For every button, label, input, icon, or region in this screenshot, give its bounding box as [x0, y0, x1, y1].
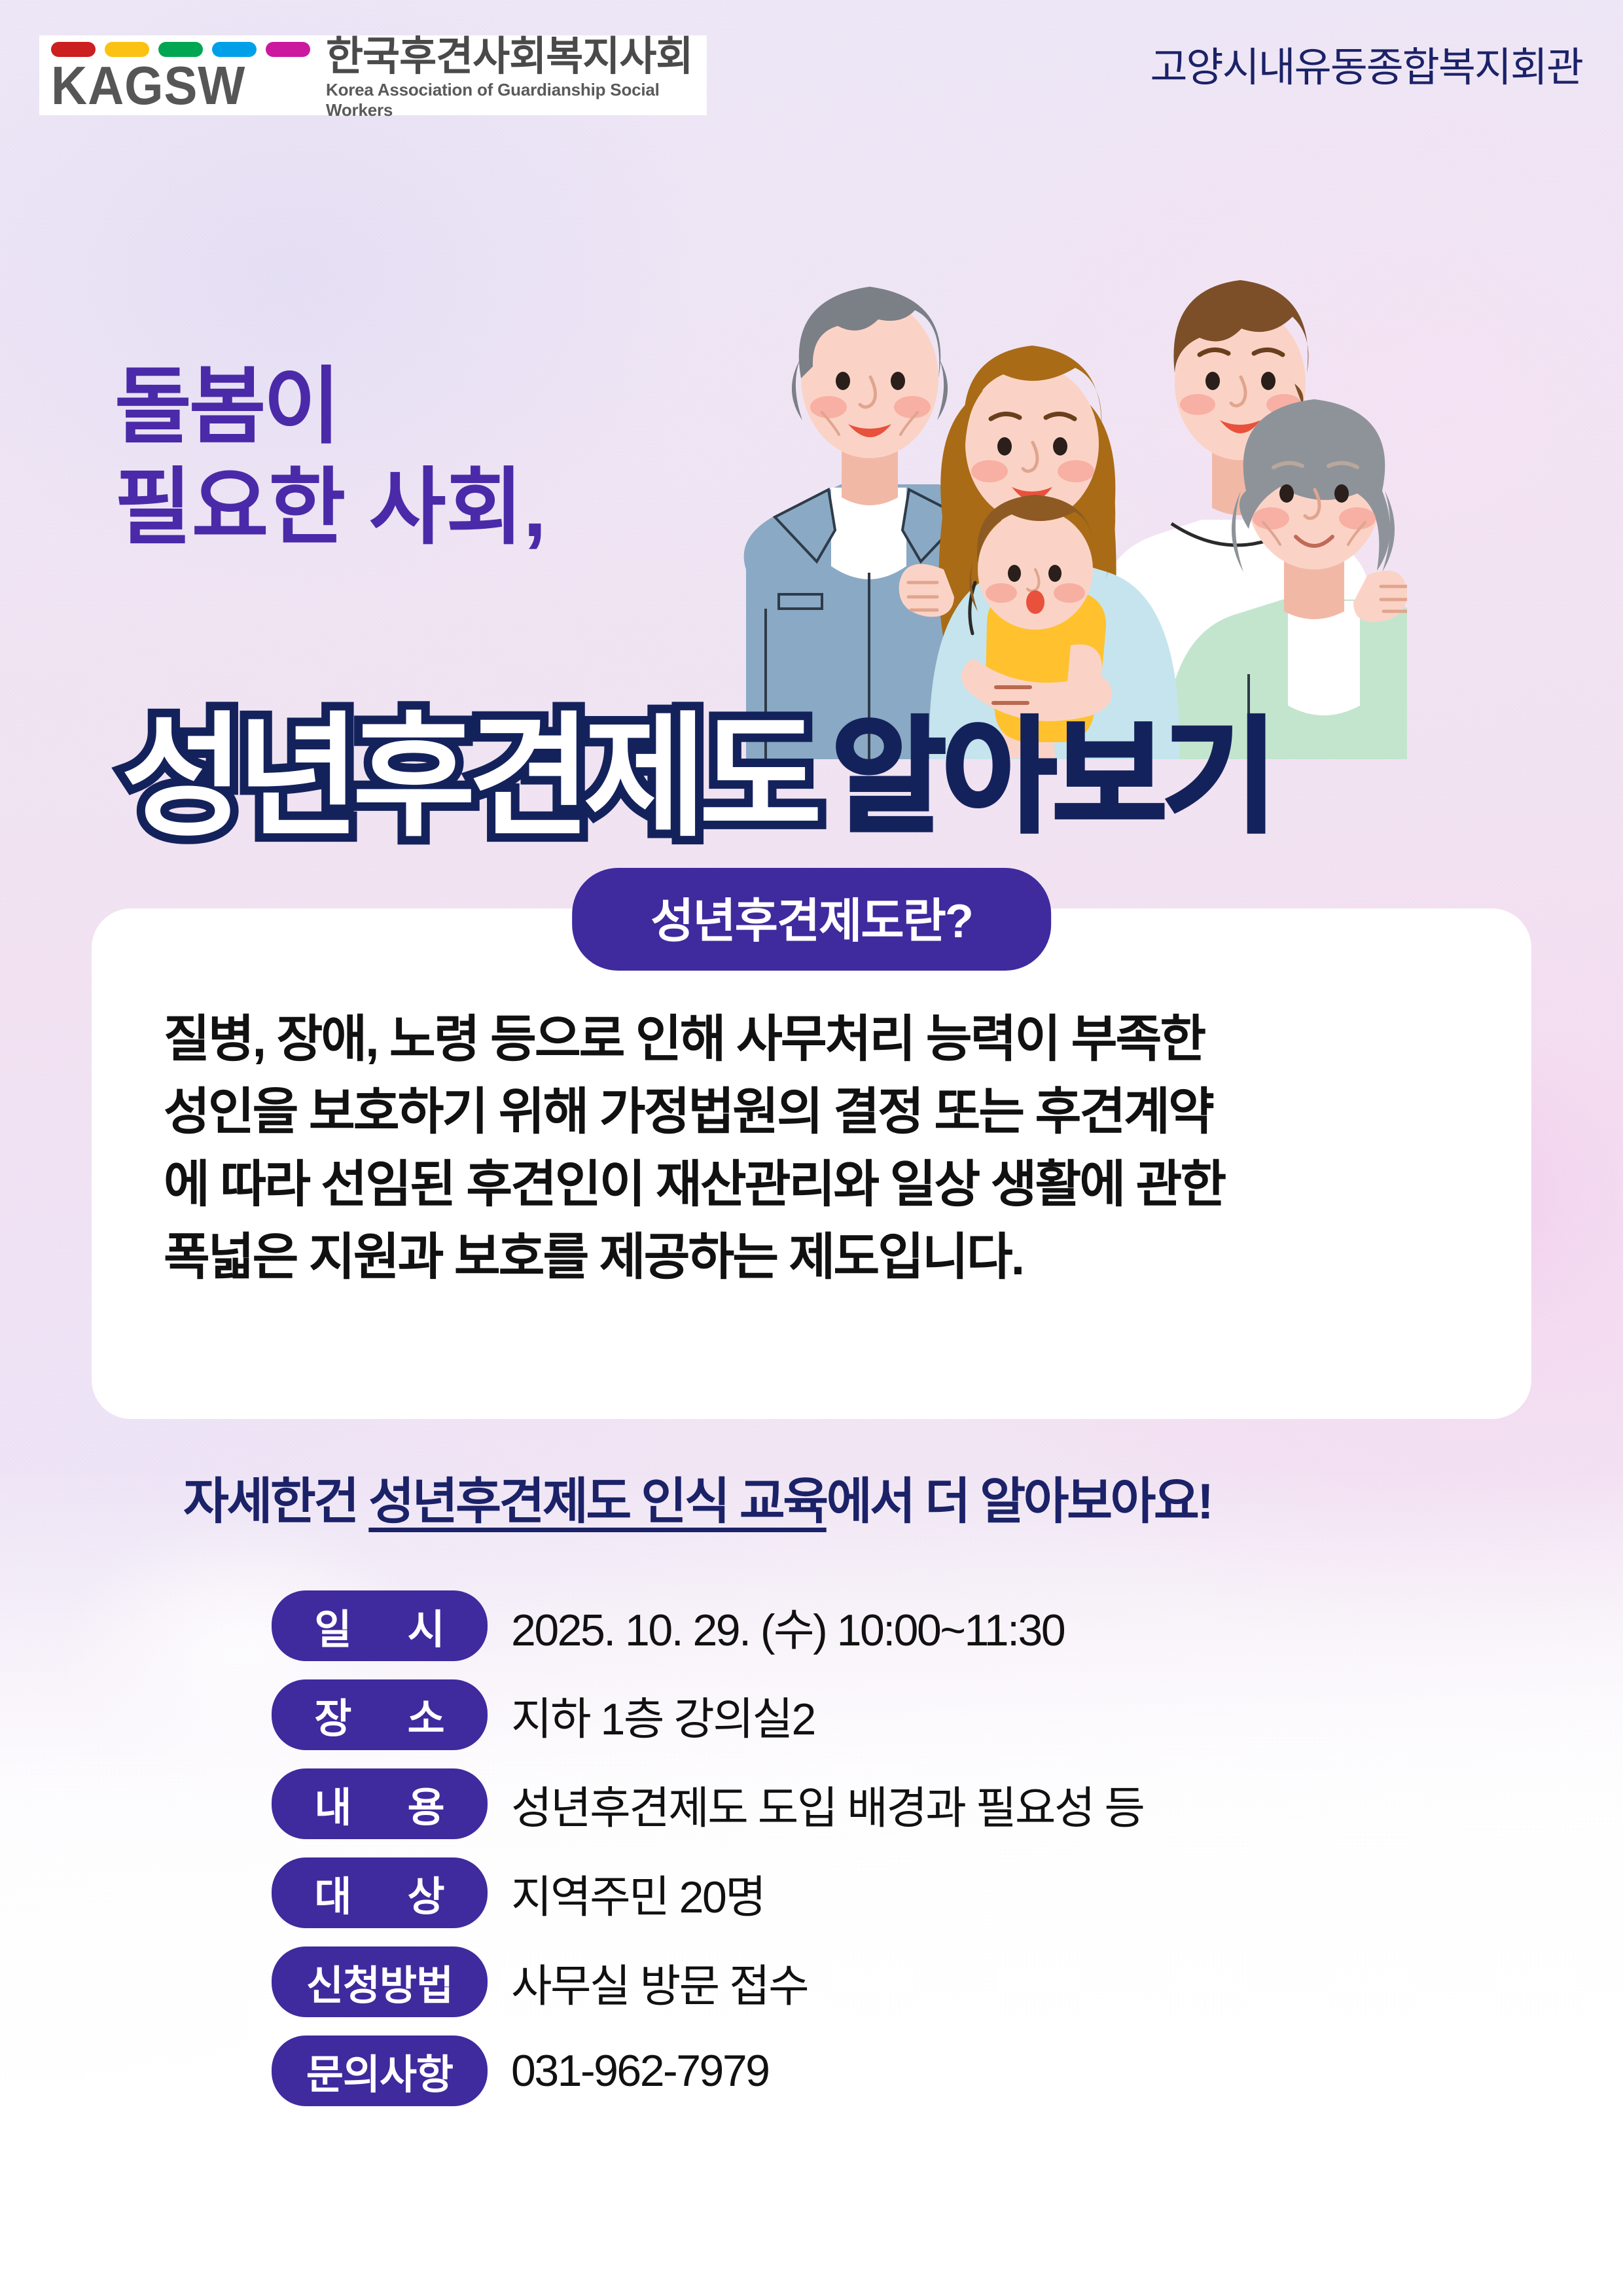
hero-title-solid: 알아보기: [832, 708, 1274, 847]
info-value-datetime: 2025. 10. 29. (수) 10:00~11:30: [511, 1594, 1064, 1659]
info-value-apply-method: 사무실 방문 접수: [511, 1950, 808, 2015]
definition-line-4: 폭넓은 지원과 보호를 제공하는 제도입니다.: [164, 1221, 1472, 1294]
family-illustration: [713, 216, 1407, 759]
info-value-audience: 지역주민 20명: [511, 1861, 764, 1926]
info-label-content: 내 용: [272, 1768, 488, 1839]
venue-name: 고양시내유동종합복지회관: [1150, 34, 1582, 93]
hero-subtitle-line2: 필요한 사회,: [115, 457, 546, 558]
info-row-datetime: 일 시 2025. 10. 29. (수) 10:00~11:30: [272, 1590, 1143, 1661]
definition-line-3: 에 따라 선임된 후견인이 재산관리와 일상 생활에 관한: [164, 1149, 1472, 1221]
cta-prefix: 자세한건: [183, 1474, 368, 1530]
logo-english-name: Korea Association of Guardianship Social…: [326, 80, 698, 120]
info-label-contact: 문의사항: [272, 2036, 488, 2106]
definition-card: 성년후견제도란? 질병, 장애, 노령 등으로 인해 사무처리 능력이 부족한 …: [92, 908, 1531, 1419]
info-label-location: 장 소: [272, 1679, 488, 1750]
info-row-location: 장 소 지하 1층 강의실2: [272, 1679, 1143, 1750]
logo-mark: KAGSW: [51, 42, 310, 108]
kagsw-logo: KAGSW 한국후견사회복지사회 Korea Association of Gu…: [39, 35, 707, 115]
logo-name-block: 한국후견사회복지사회 Korea Association of Guardian…: [326, 30, 698, 120]
hero-title: 성년후견제도알아보기: [121, 710, 1274, 844]
info-label-datetime: 일 시: [272, 1590, 488, 1661]
info-label-apply-method: 신청방법: [272, 1946, 488, 2017]
info-value-content: 성년후견제도 도입 배경과 필요성 등: [511, 1772, 1143, 1837]
hero-subtitle-line1: 돌봄이: [115, 357, 546, 457]
cta-underlined: 성년후견제도 인식 교육: [368, 1474, 826, 1530]
logo-korean-name: 한국후견사회복지사회: [326, 35, 698, 78]
hero-title-outlined: 성년후견제도: [121, 702, 815, 852]
definition-line-1: 질병, 장애, 노령 등으로 인해 사무처리 능력이 부족한: [164, 1003, 1472, 1076]
poster-header: KAGSW 한국후견사회복지사회 Korea Association of Gu…: [0, 0, 1623, 124]
info-row-apply-method: 신청방법 사무실 방문 접수: [272, 1946, 1143, 2017]
cta-line: 자세한건 성년후견제도 인식 교육에서 더 알아보아요!: [183, 1461, 1211, 1533]
definition-pill-label: 성년후견제도란?: [572, 868, 1051, 971]
info-row-audience: 대 상 지역주민 20명: [272, 1857, 1143, 1928]
logo-wordmark: KAGSW: [51, 63, 289, 108]
definition-body: 질병, 장애, 노령 등으로 인해 사무처리 능력이 부족한 성인을 보호하기 …: [164, 1003, 1472, 1294]
hero-subtitle: 돌봄이 필요한 사회,: [115, 357, 546, 558]
event-info-list: 일 시 2025. 10. 29. (수) 10:00~11:30 장 소 지하…: [272, 1590, 1143, 2106]
info-row-contact: 문의사항 031-962-7979: [272, 2036, 1143, 2106]
info-value-location: 지하 1층 강의실2: [511, 1683, 815, 1748]
poster-root: KAGSW 한국후견사회복지사회 Korea Association of Gu…: [0, 0, 1623, 2296]
cta-suffix: 에서 더 알아보아요!: [827, 1474, 1211, 1530]
info-row-content: 내 용 성년후견제도 도입 배경과 필요성 등: [272, 1768, 1143, 1839]
info-label-audience: 대 상: [272, 1857, 488, 1928]
definition-line-2: 성인을 보호하기 위해 가정법원의 결정 또는 후견계약: [164, 1076, 1472, 1149]
logo-swatch-magenta: [266, 42, 310, 57]
info-value-contact: 031-962-7979: [511, 2045, 768, 2096]
